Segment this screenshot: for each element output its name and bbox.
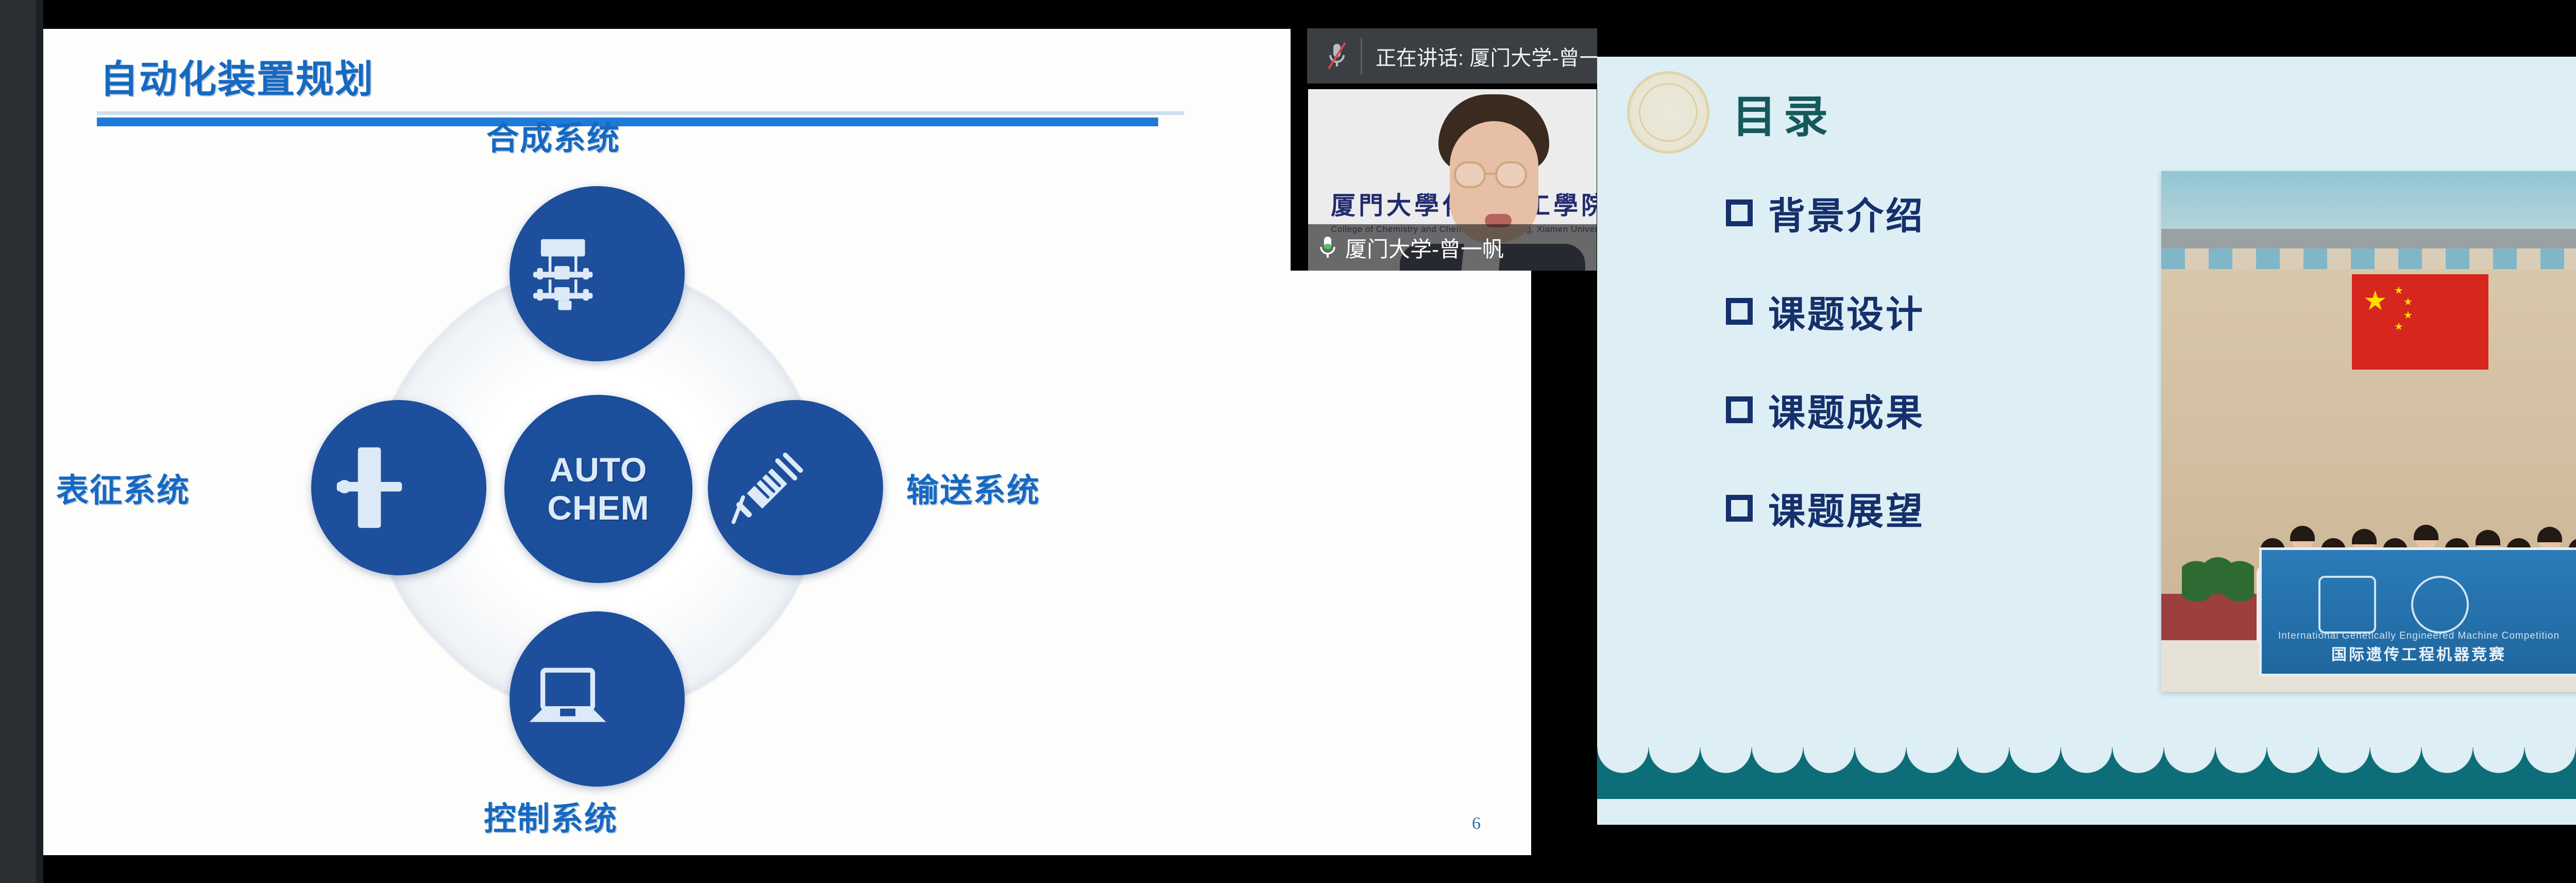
reactor-icon bbox=[520, 226, 674, 322]
node-control[interactable] bbox=[510, 611, 685, 787]
speaker-name-label: 厦门大学-曾一帆 bbox=[1345, 232, 1504, 263]
toc-item-label: 课题展望 bbox=[1768, 481, 1925, 535]
syringe-icon bbox=[718, 440, 873, 536]
toc-title: 目录 bbox=[1732, 80, 1835, 145]
active-speaker-panel[interactable]: 正在讲话: 厦门大学-曾一帆; 厦門大學化學化工學院 College of Ch… bbox=[1291, 28, 1597, 271]
checkbox-icon bbox=[1726, 199, 1753, 226]
node-characterization[interactable] bbox=[311, 400, 486, 575]
xmu-tower-crest-icon bbox=[2318, 576, 2376, 634]
speaker-nameplate: 厦门大学-曾一帆 bbox=[1308, 224, 1597, 271]
slide-wave-decoration bbox=[1597, 747, 2576, 825]
banner-english-text: International Genetically Engineered Mac… bbox=[2262, 630, 2576, 642]
node-label-characterization: 表征系统 bbox=[56, 464, 190, 511]
igem-team-banner: International Genetically Engineered Mac… bbox=[2259, 547, 2576, 676]
china-flag-icon: ★ ★ ★ ★ ★ bbox=[2352, 274, 2488, 370]
node-synthesis[interactable] bbox=[510, 186, 685, 361]
node-label-control: 控制系统 bbox=[484, 793, 618, 840]
title-underline-thick bbox=[97, 118, 1158, 126]
toc-item-label: 课题设计 bbox=[1768, 284, 1925, 338]
toc-list: 背景介绍 课题设计 课题成果 课题展望 bbox=[1726, 186, 1925, 579]
toc-item-outlook[interactable]: 课题展望 bbox=[1726, 481, 1925, 535]
toc-item-results[interactable]: 课题成果 bbox=[1726, 382, 1925, 437]
speaking-status-bar: 正在讲话: 厦门大学-曾一帆; bbox=[1307, 28, 1597, 84]
title-underline-thin bbox=[97, 111, 1184, 115]
slide-title: 自动化装置规划 bbox=[100, 48, 374, 104]
xmu-seal-crest-icon bbox=[2411, 576, 2469, 634]
shared-screen-right[interactable]: 目录 背景介绍 课题设计 课题成果 课题展望 bbox=[1597, 0, 2576, 883]
checkbox-icon bbox=[1726, 495, 1753, 522]
automation-system-diagram: 合成系统 表征系统 AUTO CHEM bbox=[291, 158, 971, 828]
status-bar-divider bbox=[1361, 38, 1362, 74]
university-seal-icon bbox=[1627, 71, 1709, 154]
toc-item-background[interactable]: 背景介绍 bbox=[1726, 186, 1925, 240]
presentation-slide-right[interactable]: 目录 背景介绍 课题设计 课题成果 课题展望 bbox=[1597, 57, 2576, 825]
slide-page-number: 6 bbox=[1472, 814, 1481, 834]
checkbox-icon bbox=[1726, 396, 1753, 423]
speaking-status-text: 正在讲话: 厦门大学-曾一帆; bbox=[1376, 41, 1626, 71]
node-label-synthesis: 合成系统 bbox=[486, 112, 620, 159]
node-center-autochem[interactable]: AUTO CHEM bbox=[504, 395, 692, 583]
app-left-rail bbox=[0, 0, 36, 883]
center-text-line2: CHEM bbox=[547, 489, 649, 527]
toc-item-label: 背景介绍 bbox=[1768, 186, 1925, 240]
laptop-icon bbox=[520, 651, 674, 747]
app-rail-divider bbox=[36, 0, 43, 883]
mic-muted-icon[interactable] bbox=[1325, 41, 1349, 72]
checkbox-icon bbox=[1726, 298, 1753, 325]
banner-chinese-text: 国际遗传工程机器竞赛 bbox=[2262, 642, 2576, 664]
analyzer-icon bbox=[321, 440, 476, 536]
node-label-delivery: 输送系统 bbox=[906, 464, 1040, 511]
team-group-photo: ★ ★ ★ ★ ★ A bbox=[2161, 171, 2576, 692]
center-text-line1: AUTO bbox=[547, 451, 649, 489]
toc-item-design[interactable]: 课题设计 bbox=[1726, 284, 1925, 338]
toc-item-label: 课题成果 bbox=[1768, 382, 1925, 437]
mic-on-icon[interactable] bbox=[1318, 236, 1337, 259]
node-delivery[interactable] bbox=[708, 400, 883, 575]
